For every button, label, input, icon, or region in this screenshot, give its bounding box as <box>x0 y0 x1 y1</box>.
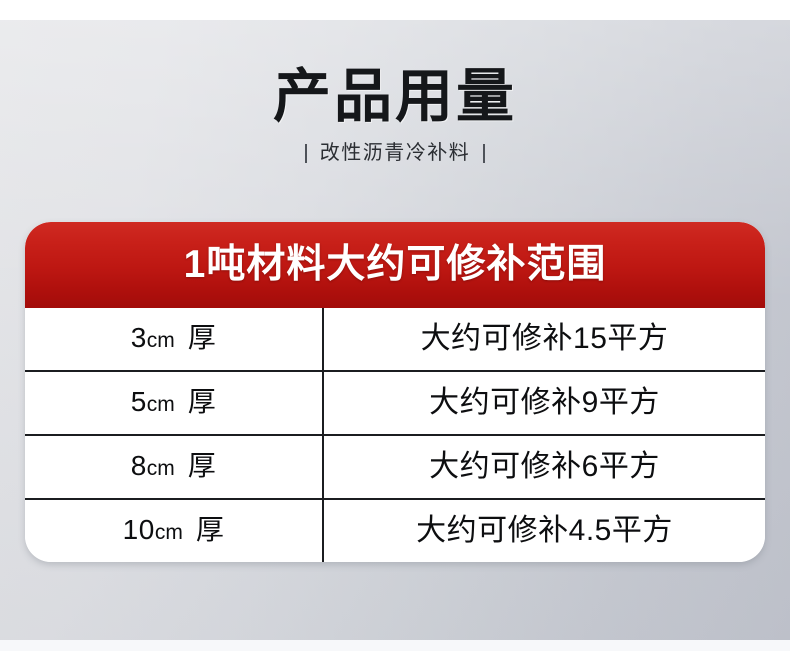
usage-table-header: 1吨材料大约可修补范围 <box>25 222 765 308</box>
table-cell-thickness: 3cm厚 <box>25 308 324 370</box>
table-row: 8cm厚 大约可修补6平方 <box>25 434 765 498</box>
heading-block: 产品用量 改性沥青冷补料 <box>0 64 790 164</box>
thickness-unit: cm <box>147 393 175 416</box>
table-cell-coverage: 大约可修补9平方 <box>324 372 765 434</box>
table-cell-thickness: 5cm厚 <box>25 372 324 434</box>
thickness-value: 10 <box>123 514 155 545</box>
thickness-unit: cm <box>147 329 175 352</box>
table-cell-thickness: 10cm厚 <box>25 500 324 562</box>
usage-table-body: 3cm厚 大约可修补15平方 5cm厚 大约可修补9平方 8cm厚 <box>25 308 765 562</box>
usage-table-header-label: 1吨材料大约可修补范围 <box>184 243 607 287</box>
usage-table-card: 1吨材料大约可修补范围 3cm厚 大约可修补15平方 5cm厚 大约可修补9平方 <box>25 222 765 562</box>
subtitle-text: 改性沥青冷补料 <box>320 142 471 164</box>
thickness-unit: cm <box>155 521 183 544</box>
coverage-label: 大约可修补6平方 <box>429 450 660 484</box>
thickness-label: 3cm厚 <box>131 322 217 357</box>
thickness-value: 3 <box>131 322 147 353</box>
thickness-word: 厚 <box>188 322 217 353</box>
subtitle-row: 改性沥青冷补料 <box>0 142 790 164</box>
coverage-label: 大约可修补4.5平方 <box>416 514 673 548</box>
thickness-label: 8cm厚 <box>131 450 217 485</box>
top-white-band <box>0 0 790 20</box>
subtitle-right-divider-icon <box>483 144 485 163</box>
thickness-word: 厚 <box>188 386 217 417</box>
thickness-word: 厚 <box>188 450 217 481</box>
table-row: 5cm厚 大约可修补9平方 <box>25 370 765 434</box>
table-row: 10cm厚 大约可修补4.5平方 <box>25 498 765 562</box>
coverage-label: 大约可修补15平方 <box>421 322 669 356</box>
thickness-label: 10cm厚 <box>123 514 225 549</box>
page-title: 产品用量 <box>0 64 790 130</box>
coverage-label: 大约可修补9平方 <box>429 386 660 420</box>
thickness-value: 5 <box>131 386 147 417</box>
table-row: 3cm厚 大约可修补15平方 <box>25 308 765 370</box>
table-cell-coverage: 大约可修补6平方 <box>324 436 765 498</box>
thickness-unit: cm <box>147 457 175 480</box>
product-usage-infographic: 产品用量 改性沥青冷补料 1吨材料大约可修补范围 3cm厚 大约可修补15平方 … <box>0 0 790 651</box>
bottom-white-band <box>0 640 790 651</box>
table-cell-coverage: 大约可修补4.5平方 <box>324 500 765 562</box>
thickness-word: 厚 <box>196 514 225 545</box>
table-cell-coverage: 大约可修补15平方 <box>324 308 765 370</box>
thickness-label: 5cm厚 <box>131 386 217 421</box>
thickness-value: 8 <box>131 450 147 481</box>
table-cell-thickness: 8cm厚 <box>25 436 324 498</box>
subtitle-left-divider-icon <box>305 144 307 163</box>
